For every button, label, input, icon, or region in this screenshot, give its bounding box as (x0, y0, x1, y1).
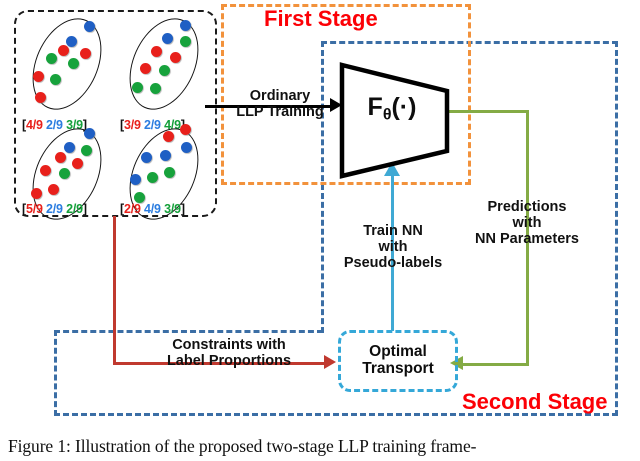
first-stage-title: First Stage (264, 6, 378, 32)
nn-label-arg: (·) (391, 93, 416, 121)
bag-2-dot-blue-2 (162, 33, 173, 44)
constraints-label: Constraints with Label Proportions (140, 338, 318, 370)
bag-2-dot-red-2 (170, 52, 181, 63)
bag-4-prop-blue: 4/9 (144, 202, 161, 216)
bag-4-dot-blue-3 (141, 152, 152, 163)
bag-4-dot-blue-4 (130, 174, 141, 185)
bag-1-prop-red: 4/9 (26, 118, 43, 132)
bag-4-prop-green: 3/9 (164, 202, 181, 216)
bag-1-dot-red-2 (58, 45, 69, 56)
bag-1-dot-green-2 (46, 53, 57, 64)
bag-4-dot-blue-1 (181, 142, 192, 153)
bag-2-dot-green-2 (159, 65, 170, 76)
bag-2-dot-blue-1 (180, 20, 191, 31)
bag-2-dot-red-3 (140, 63, 151, 74)
second-stage-box-top-edge (54, 330, 323, 333)
bag-3-prop-red: 5/9 (26, 202, 43, 216)
bag-2-dot-red-1 (151, 46, 162, 57)
predictions-label: Predictions with NN Parameters (462, 200, 592, 248)
bag-1-dot-blue-2 (66, 36, 77, 47)
train-nn-line-3: Pseudo-labels (330, 256, 456, 272)
bag-4-dot-blue-2 (160, 150, 171, 161)
predictions-line-1: Predictions (462, 200, 592, 216)
second-stage-title: Second Stage (462, 389, 607, 415)
ordinary-llp-training-label: Ordinary LLP Training (231, 89, 329, 121)
train-nn-label: Train NN with Pseudo-labels (330, 224, 456, 272)
figure-caption: Figure 1: Illustration of the proposed t… (8, 436, 632, 457)
nn-label-f: F (368, 93, 383, 121)
bag-2-prop-red: 3/9 (124, 118, 141, 132)
bag-4-dot-green-2 (147, 172, 158, 183)
constraints-arrow-head-icon (324, 355, 336, 369)
bag-1-dot-green-1 (68, 58, 79, 69)
optimal-transport-node: Optimal Transport (338, 330, 458, 392)
bag-2-prop-blue: 2/9 (144, 118, 161, 132)
bag-3-prop-blue: 2/9 (46, 202, 63, 216)
bag-3-dot-red-4 (48, 184, 59, 195)
bag-3-dot-red-2 (72, 158, 83, 169)
predictions-line-3: NN Parameters (462, 232, 592, 248)
bag-3-proportions: [5/9 2/9 2/9] (22, 202, 87, 216)
constraints-line-1: Constraints with (140, 338, 318, 354)
ordinary-llp-line-2: LLP Training (231, 105, 329, 121)
bag-1-dot-green-3 (50, 74, 61, 85)
predictions-arrow-segment-top (447, 110, 529, 113)
predictions-arrow-segment-bottom (462, 363, 529, 366)
optimal-transport-line-2: Transport (362, 361, 433, 378)
predictions-line-2: with (462, 216, 592, 232)
bag-3-dot-red-5 (31, 188, 42, 199)
bag-2-dot-green-4 (150, 83, 161, 94)
bag-4-dot-green-1 (164, 167, 175, 178)
ordinary-llp-line-1: Ordinary (231, 89, 329, 105)
bag-3-dot-red-1 (55, 152, 66, 163)
bag-1-prop-blue: 2/9 (46, 118, 63, 132)
train-nn-line-2: with (330, 240, 456, 256)
bag-4-dot-red-1 (180, 124, 191, 135)
constraints-arrow-segment-vertical (113, 216, 116, 363)
train-nn-line-1: Train NN (330, 224, 456, 240)
bag-4-prop-red: 2/9 (124, 202, 141, 216)
bag-4-dot-red-2 (163, 131, 174, 142)
bag-3-dot-blue-2 (64, 142, 75, 153)
bag-3-dot-blue-1 (84, 128, 95, 139)
bag-2-dot-green-1 (180, 36, 191, 47)
bag-3-dot-green-1 (81, 145, 92, 156)
optimal-transport-line-1: Optimal (369, 344, 427, 361)
bag-1-dot-red-1 (80, 48, 91, 59)
figure-root: [4/9 2/9 3/9] [3/9 2/9 4/9] [5/9 2/9 2/9… (0, 0, 640, 461)
bag-1-dot-blue-1 (84, 21, 95, 32)
constraints-line-2: Label Proportions (140, 354, 318, 370)
bag-3-dot-red-3 (40, 165, 51, 176)
bag-3-dot-green-2 (59, 168, 70, 179)
bag-1-dot-red-3 (33, 71, 44, 82)
bag-2-dot-green-3 (132, 82, 143, 93)
bag-1-dot-red-4 (35, 92, 46, 103)
neural-network-label: Fθ(·) (337, 93, 447, 124)
bag-4-proportions: [2/9 4/9 3/9] (120, 202, 185, 216)
bag-3-prop-green: 2/9 (66, 202, 83, 216)
